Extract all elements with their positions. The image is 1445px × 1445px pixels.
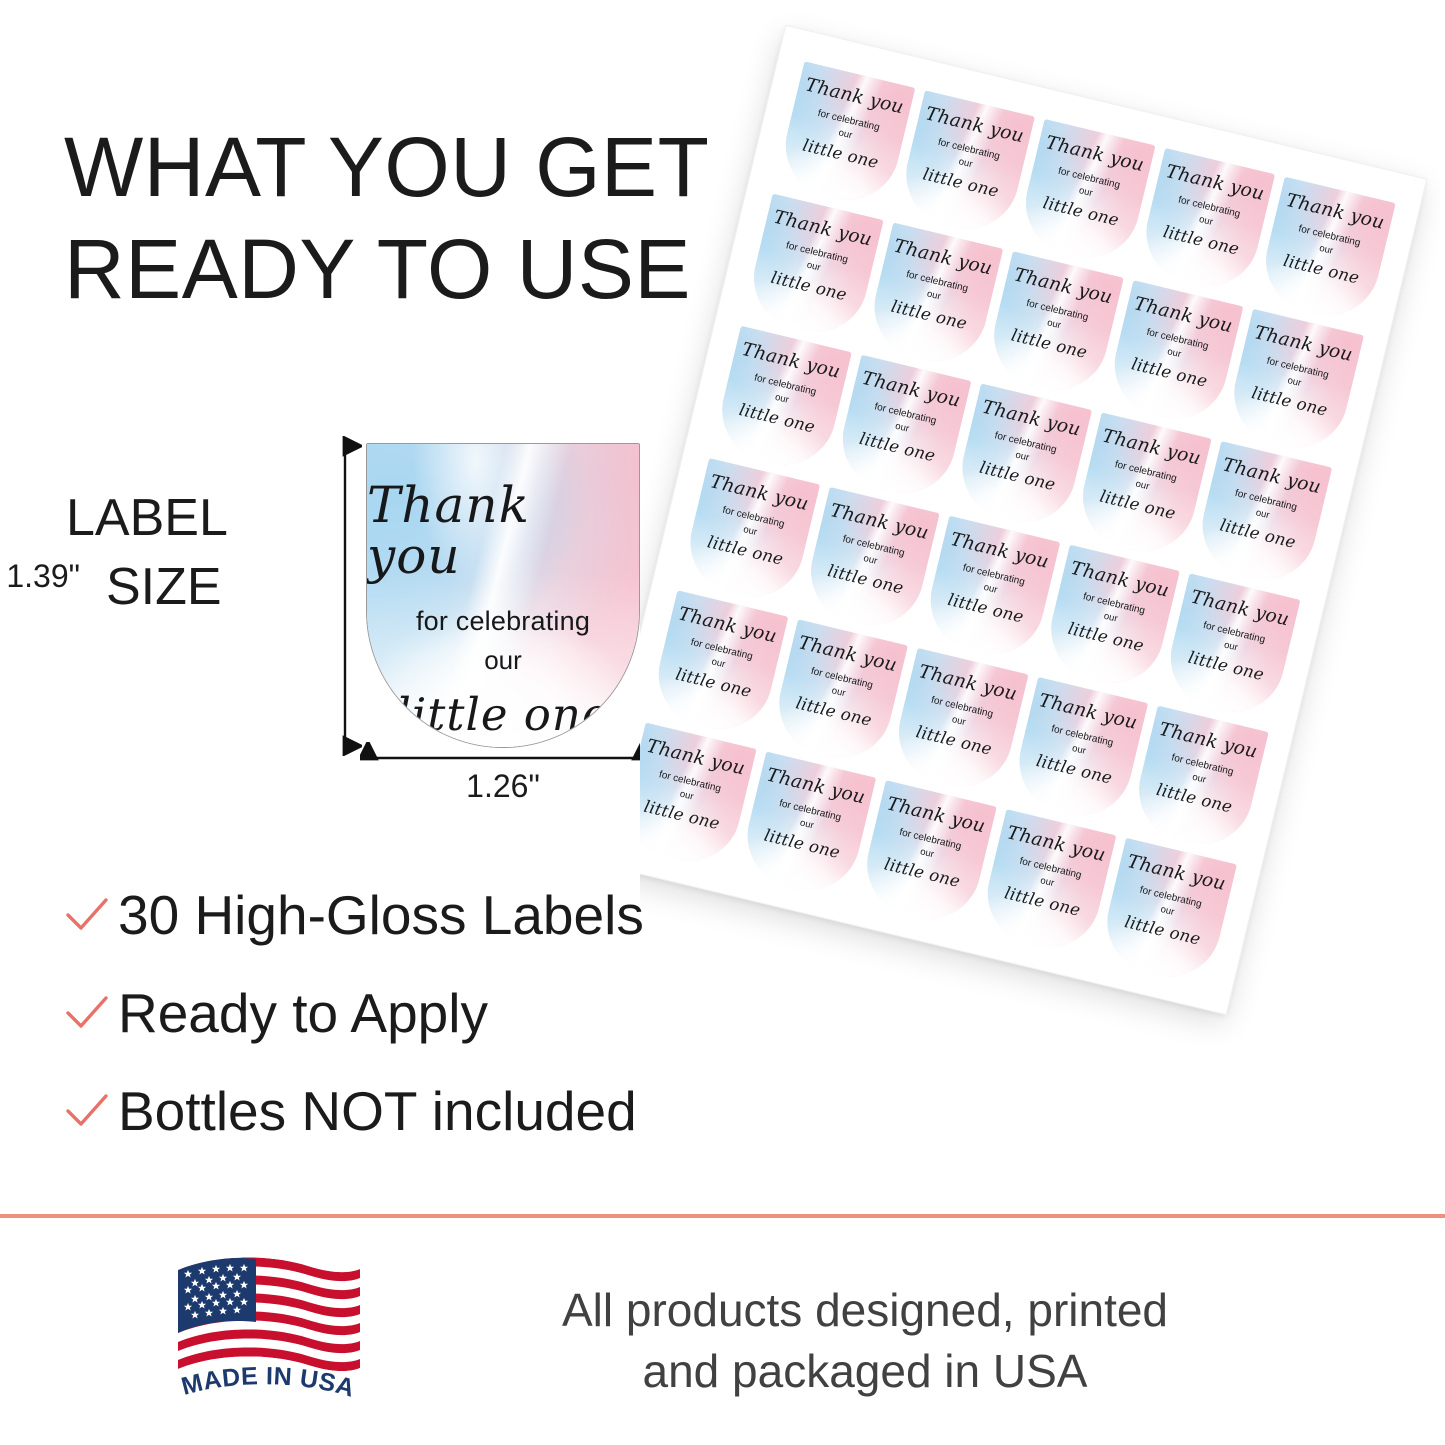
sheet-label: Thank youfor celebratingourlittle one	[712, 326, 852, 475]
infographic-canvas: WHAT YOU GET READY TO USE Thank youfor c…	[0, 0, 1445, 1445]
sheet-our: our	[862, 552, 878, 566]
sheet-our: our	[1223, 639, 1239, 653]
sheet-label-text: Thank youfor celebratingourlittle one	[1161, 573, 1301, 722]
sheet-label: Thank youfor celebratingourlittle one	[1104, 280, 1244, 429]
sheet-little-one: little one	[978, 457, 1058, 494]
sheet-label-text: Thank youfor celebratingourlittle one	[680, 458, 820, 607]
sheet-label-text: Thank youfor celebratingourlittle one	[984, 251, 1124, 400]
sheet-label: Thank youfor celebratingourlittle one	[640, 723, 756, 872]
sheet-label-text: Thank youfor celebratingourlittle one	[1256, 177, 1396, 326]
dimension-width-value: 1.26"	[365, 768, 641, 805]
sheet-label: Thank youfor celebratingourlittle one	[977, 809, 1117, 958]
sheet-our: our	[1318, 242, 1334, 256]
footer: MADE IN USA All products designed, print…	[0, 1240, 1445, 1445]
sheet-little-one: little one	[826, 561, 906, 598]
label-size-word-2: SIZE	[66, 553, 228, 622]
sheet-little-one: little one	[737, 400, 817, 437]
sheet-label-text: Thank youfor celebratingourlittle one	[1009, 677, 1149, 826]
sheet-little-one: little one	[674, 664, 754, 701]
sheet-label: Thank youfor celebratingourlittle one	[1256, 177, 1396, 326]
sheet-label: Thank youfor celebratingourlittle one	[1224, 309, 1364, 458]
sheet-label: Thank youfor celebratingourlittle one	[743, 194, 883, 343]
sheet-our: our	[926, 288, 942, 302]
check-icon	[64, 993, 118, 1033]
sheet-little-one: little one	[1041, 193, 1121, 230]
sheet-little-one: little one	[921, 164, 1001, 201]
sheet-label: Thank youfor celebratingourlittle one	[680, 458, 820, 607]
sheet-little-one: little one	[762, 825, 842, 862]
sheet-our: our	[838, 127, 854, 141]
sheet-label-text: Thank youfor celebratingourlittle one	[952, 383, 1092, 532]
label-sheet: Thank youfor celebratingourlittle oneTha…	[640, 25, 1427, 1015]
sheet-label-text: Thank youfor celebratingourlittle one	[775, 61, 915, 210]
sheet-our: our	[951, 714, 967, 728]
sample-little-one: little one	[397, 688, 610, 741]
sheet-label-text: Thank youfor celebratingourlittle one	[1104, 280, 1244, 429]
sheet-label: Thank youfor celebratingourlittle one	[832, 355, 972, 504]
sheet-little-one: little one	[1003, 883, 1083, 920]
sheet-little-one: little one	[1155, 779, 1235, 816]
sheet-our: our	[1166, 346, 1182, 360]
sheet-label: Thank youfor celebratingourlittle one	[857, 780, 997, 929]
sheet-little-one: little one	[858, 428, 938, 465]
sheet-label-text: Thank youfor celebratingourlittle one	[977, 809, 1117, 958]
sheet-label: Thank youfor celebratingourlittle one	[768, 619, 908, 768]
sheet-our: our	[1135, 478, 1151, 492]
sheet-our: our	[831, 685, 847, 699]
sheet-label: Thank youfor celebratingourlittle one	[888, 648, 1028, 797]
headline-line-2: READY TO USE	[64, 218, 709, 320]
feature-label: Bottles NOT included	[118, 1084, 637, 1139]
sheet-label-text: Thank youfor celebratingourlittle one	[768, 619, 908, 768]
label-sheet-photo: Thank youfor celebratingourlittle oneTha…	[640, 0, 1440, 1140]
sheet-label: Thank youfor celebratingourlittle one	[1129, 706, 1269, 855]
sheet-little-one: little one	[1066, 618, 1146, 655]
sheet-our: our	[1255, 507, 1271, 521]
sheet-label: Thank youfor celebratingourlittle one	[895, 90, 1035, 239]
sheet-little-one: little one	[794, 693, 874, 730]
dimension-height-value: 1.39"	[0, 558, 80, 595]
sheet-little-one: little one	[1250, 383, 1330, 420]
sheet-label: Thank youfor celebratingourlittle one	[1072, 412, 1212, 561]
sheet-little-one: little one	[1130, 354, 1210, 391]
sheet-label-text: Thank youfor celebratingourlittle one	[640, 723, 756, 872]
sheet-little-one: little one	[1035, 751, 1115, 788]
sheet-label-text: Thank youfor celebratingourlittle one	[1072, 412, 1212, 561]
sheet-our: our	[1039, 875, 1055, 889]
sheet-label-text: Thank youfor celebratingourlittle one	[1097, 838, 1237, 987]
feature-label: Ready to Apply	[118, 986, 488, 1041]
sheet-label: Thank youfor celebratingourlittle one	[800, 487, 940, 636]
sheet-our: our	[919, 846, 935, 860]
sheet-our: our	[1046, 317, 1062, 331]
sheet-label: Thank youfor celebratingourlittle one	[864, 222, 1004, 371]
sheet-label: Thank youfor celebratingourlittle one	[952, 383, 1092, 532]
sheet-our: our	[1191, 771, 1207, 785]
feature-label: 30 High-Gloss Labels	[118, 888, 644, 943]
sheet-label: Thank youfor celebratingourlittle one	[1097, 838, 1237, 987]
sheet-our: our	[894, 420, 910, 434]
sheet-our: our	[1071, 742, 1087, 756]
sheet-little-one: little one	[914, 722, 994, 759]
sheet-our: our	[1287, 375, 1303, 389]
sheet-label: Thank youfor celebratingourlittle one	[1192, 441, 1332, 590]
headline-line-1: WHAT YOU GET	[64, 116, 709, 218]
sheet-little-one: little one	[1123, 912, 1203, 949]
check-icon	[64, 1091, 118, 1131]
sheet-little-one: little one	[1186, 647, 1266, 684]
sheet-label-text: Thank youfor celebratingourlittle one	[737, 751, 877, 900]
usa-flag-svg: MADE IN USA	[170, 1256, 365, 1426]
sheet-little-one: little one	[642, 796, 722, 833]
sheet-little-one: little one	[946, 589, 1026, 626]
sheet-label: Thank youfor celebratingourlittle one	[775, 61, 915, 210]
footer-caption: All products designed, printed and packa…	[430, 1280, 1300, 1401]
sheet-label-text: Thank youfor celebratingourlittle one	[895, 90, 1035, 239]
sheet-label: Thank youfor celebratingourlittle one	[1009, 677, 1149, 826]
sheet-little-one: little one	[706, 532, 786, 569]
sheet-label-text: Thank youfor celebratingourlittle one	[1015, 119, 1155, 268]
sheet-little-one: little one	[1218, 515, 1298, 552]
footer-line-1: All products designed, printed	[430, 1280, 1300, 1341]
footer-line-2: and packaged in USA	[430, 1341, 1300, 1402]
sheet-label: Thank youfor celebratingourlittle one	[984, 251, 1124, 400]
sheet-label: Thank youfor celebratingourlittle one	[1161, 573, 1301, 722]
sheet-little-one: little one	[889, 296, 969, 333]
check-icon	[64, 895, 118, 935]
sheet-our: our	[806, 259, 822, 273]
sheet-our: our	[742, 524, 758, 538]
sheet-label: Thank youfor celebratingourlittle one	[1015, 119, 1155, 268]
sheet-label: Thank youfor celebratingourlittle one	[920, 516, 1060, 665]
sheet-label-text: Thank youfor celebratingourlittle one	[743, 194, 883, 343]
sheet-label-text: Thank youfor celebratingourlittle one	[920, 516, 1060, 665]
sheet-little-one: little one	[1282, 250, 1362, 287]
sheet-our: our	[1198, 213, 1214, 227]
sheet-label-text: Thank youfor celebratingourlittle one	[1192, 441, 1332, 590]
sheet-our: our	[1014, 449, 1030, 463]
sheet-label: Thank youfor celebratingourlittle one	[648, 590, 788, 739]
sheet-little-one: little one	[1162, 222, 1242, 259]
sheet-label-text: Thank youfor celebratingourlittle one	[832, 355, 972, 504]
sample-our: our	[484, 645, 522, 676]
sheet-little-one: little one	[801, 135, 881, 172]
sheet-label-text: Thank youfor celebratingourlittle one	[857, 780, 997, 929]
sample-thank-you: Thank you	[367, 480, 639, 582]
sheet-our: our	[1103, 610, 1119, 624]
sample-for-celebrating: for celebrating	[416, 606, 590, 637]
sheet-our: our	[958, 156, 974, 170]
sheet-little-one: little one	[883, 854, 963, 891]
sample-label-text: Thank you for celebrating our little one	[367, 444, 639, 747]
sheet-little-one: little one	[1010, 325, 1090, 362]
sheet-our: our	[774, 391, 790, 405]
vertical-arrow-icon	[266, 436, 362, 756]
label-size-word-1: LABEL	[66, 489, 228, 547]
sheet-label-text: Thank youfor celebratingourlittle one	[1224, 309, 1364, 458]
sheet-label-text: Thank youfor celebratingourlittle one	[1129, 706, 1269, 855]
sample-label-preview: Thank you for celebrating our little one	[366, 443, 640, 748]
sheet-our: our	[679, 788, 695, 802]
sheet-label-text: Thank youfor celebratingourlittle one	[1040, 545, 1180, 694]
sheet-label: Thank youfor celebratingourlittle one	[737, 751, 877, 900]
sheet-our: our	[1078, 185, 1094, 199]
sheet-our: our	[799, 817, 815, 831]
label-size-caption: LABEL SIZE	[66, 484, 228, 621]
made-in-usa-flag-icon: MADE IN USA	[170, 1256, 365, 1426]
sheet-label-text: Thank youfor celebratingourlittle one	[712, 326, 852, 475]
sheet-our: our	[711, 656, 727, 670]
page-title: WHAT YOU GET READY TO USE	[64, 116, 709, 321]
dimension-height-arrow	[266, 436, 362, 756]
sheet-label: Thank youfor celebratingourlittle one	[1040, 545, 1180, 694]
sheet-little-one: little one	[1098, 486, 1178, 523]
sheet-our: our	[1160, 904, 1176, 918]
footer-divider	[0, 1214, 1445, 1218]
sheet-label: Thank youfor celebratingourlittle one	[1136, 148, 1276, 297]
label-sheet-grid: Thank youfor celebratingourlittle oneTha…	[640, 61, 1396, 987]
sheet-little-one: little one	[769, 267, 849, 304]
sheet-our: our	[983, 581, 999, 595]
sheet-label-text: Thank youfor celebratingourlittle one	[864, 222, 1004, 371]
sheet-label-text: Thank youfor celebratingourlittle one	[1136, 148, 1276, 297]
sheet-label-text: Thank youfor celebratingourlittle one	[648, 590, 788, 739]
sheet-label-text: Thank youfor celebratingourlittle one	[888, 648, 1028, 797]
sheet-label-text: Thank youfor celebratingourlittle one	[800, 487, 940, 636]
